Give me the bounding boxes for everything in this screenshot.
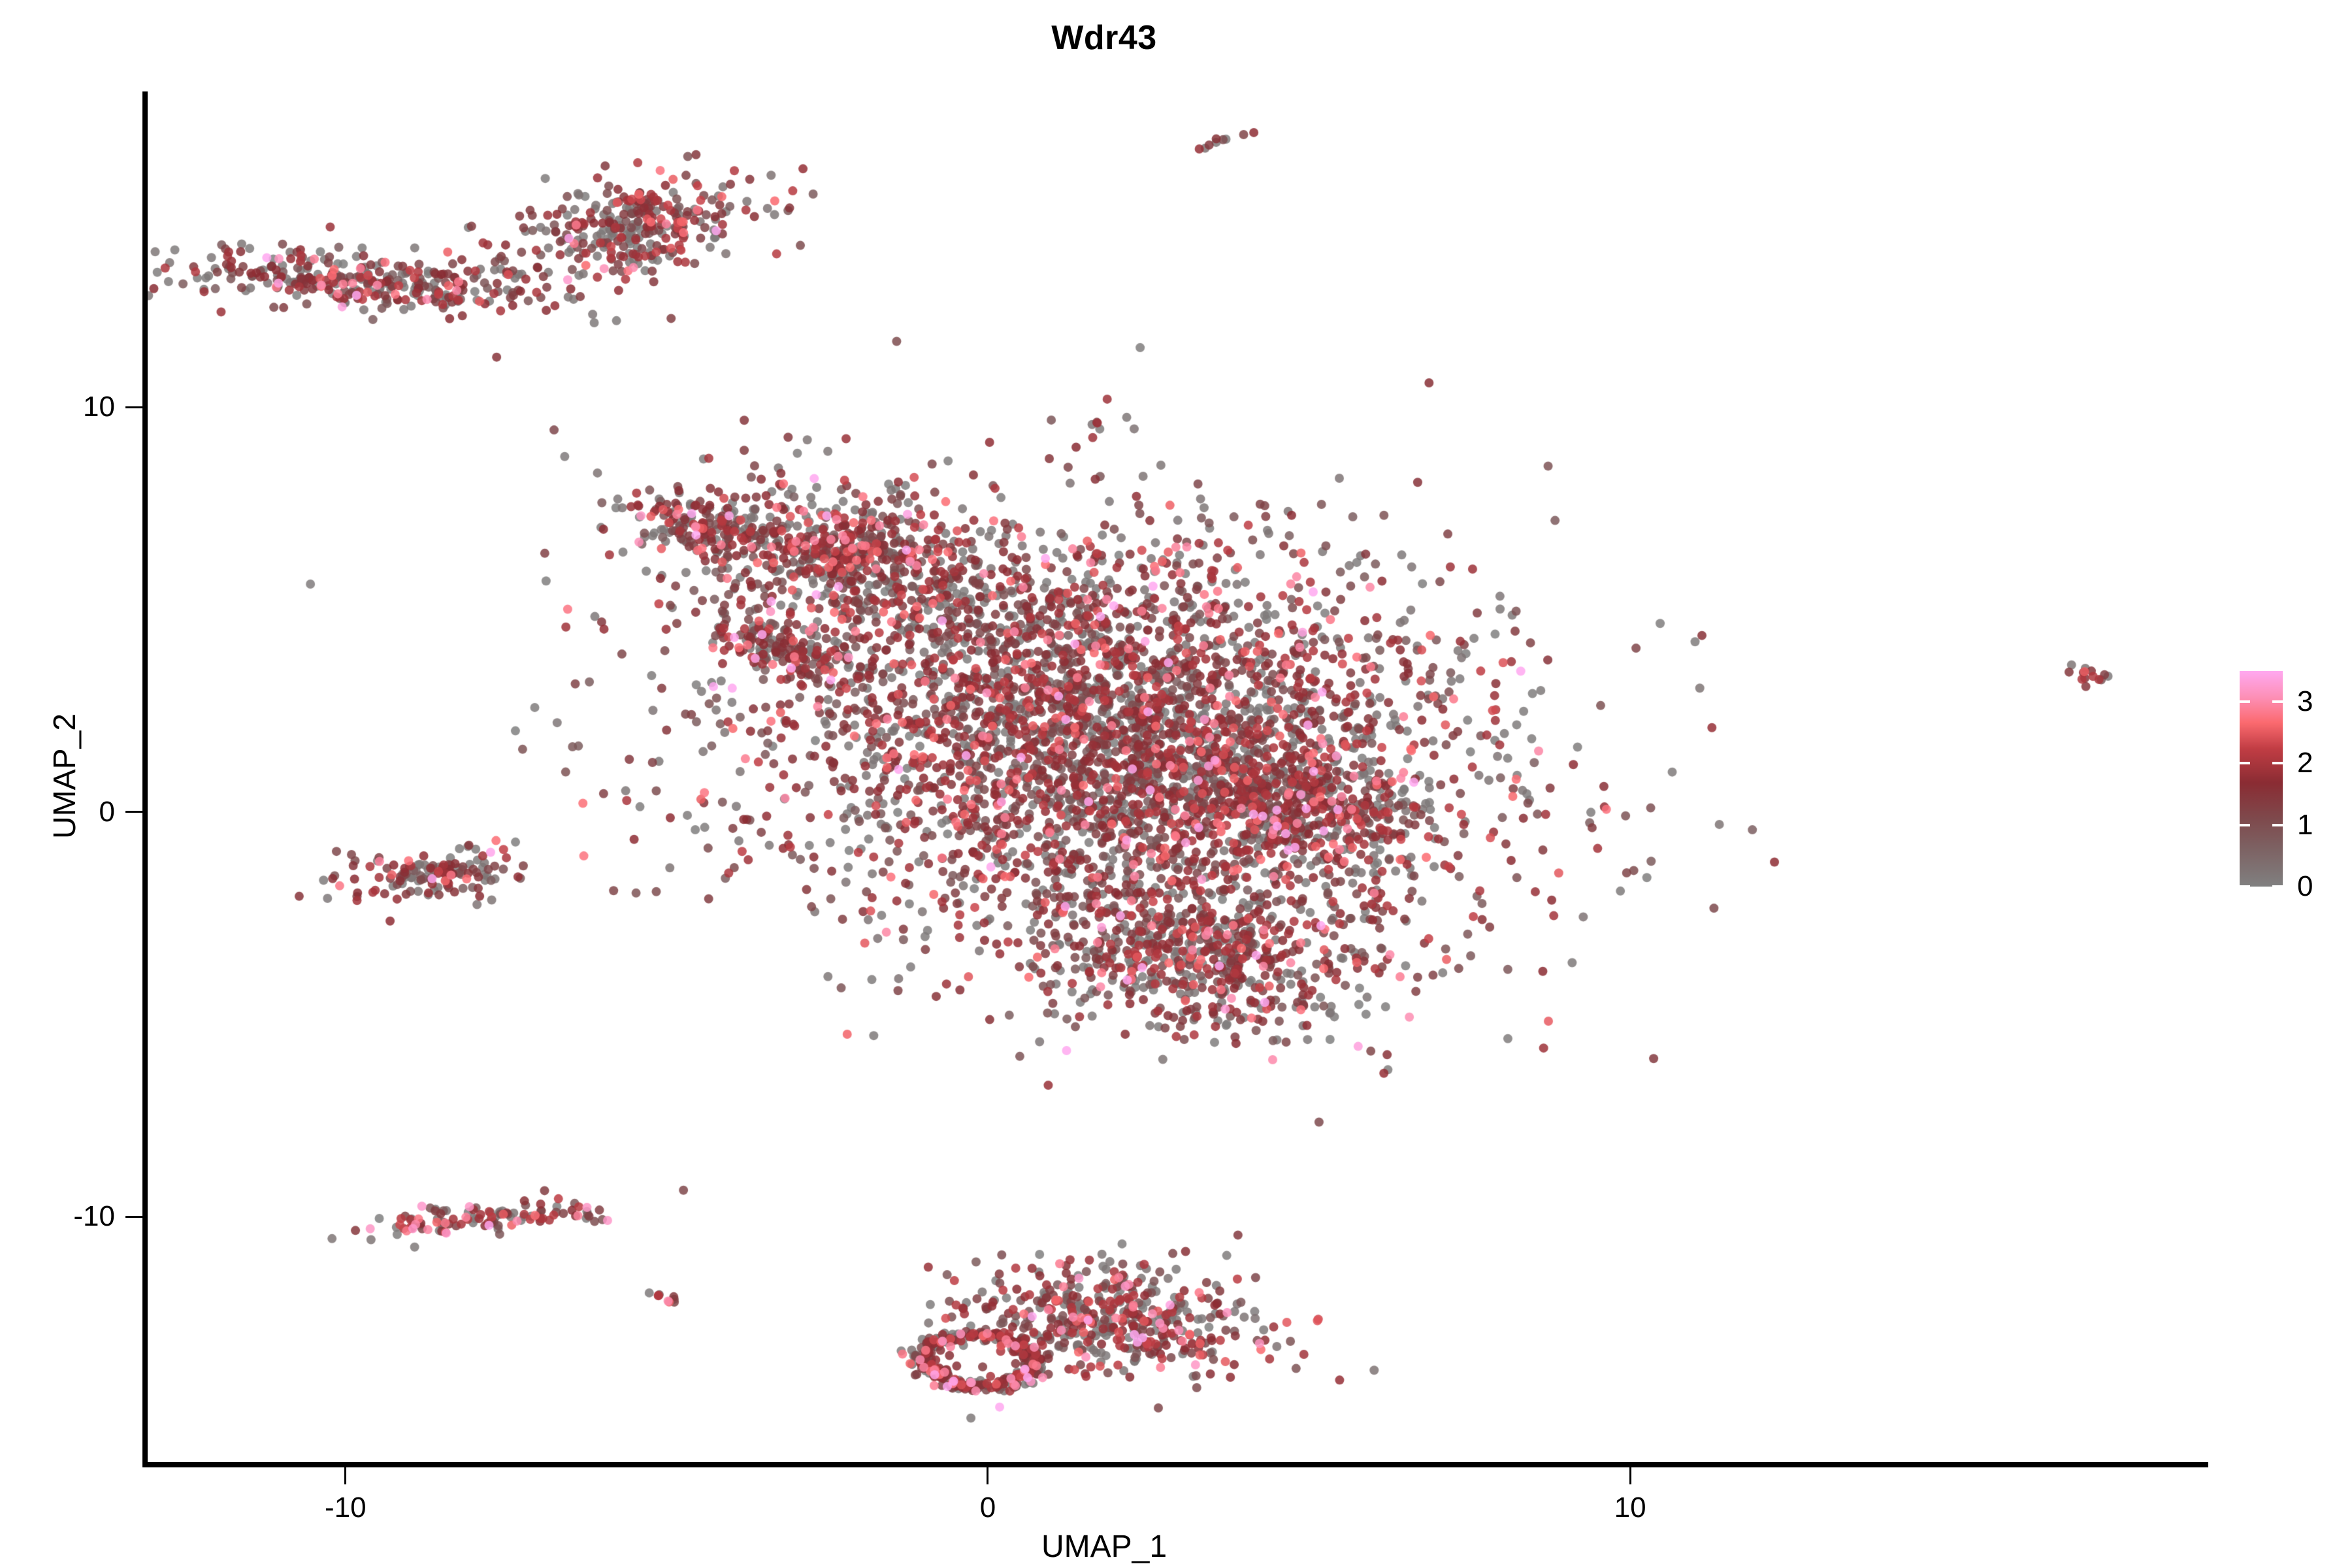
y-tick-label: 10: [0, 390, 115, 424]
y-axis-title: UMAP_2: [47, 515, 84, 1037]
legend-tick-mark: [2240, 762, 2250, 764]
legend-tick-mark: [2272, 824, 2283, 826]
legend-label: 3: [2297, 685, 2343, 719]
legend-label: 2: [2297, 746, 2343, 780]
y-tick-label: -10: [0, 1200, 115, 1233]
legend-label: 1: [2297, 808, 2343, 842]
y-tick-mark: [125, 1216, 142, 1218]
y-axis-line: [142, 91, 148, 1466]
x-tick-mark: [344, 1467, 346, 1484]
legend-tick-mark: [2240, 885, 2250, 888]
legend-tick-mark: [2272, 700, 2283, 703]
legend-tick-mark: [2272, 762, 2283, 764]
x-tick-mark: [987, 1467, 988, 1484]
color-legend[interactable]: 3210: [2237, 666, 2348, 902]
y-tick-mark: [125, 406, 142, 408]
scatter-points-canvas: [146, 91, 2208, 1463]
x-axis-title: UMAP_1: [0, 1529, 2208, 1565]
legend-tick-mark: [2240, 824, 2250, 826]
y-tick-mark: [125, 811, 142, 813]
x-tick-label: -10: [280, 1491, 411, 1525]
plot-panel: [146, 91, 2208, 1463]
x-tick-label: 10: [1565, 1491, 1695, 1525]
umap-feature-plot: Wdr43 -10010 100-10 UMAP_1 UMAP_2 3210: [0, 0, 2352, 1568]
x-axis-line: [142, 1462, 2208, 1467]
legend-colorbar: [2240, 671, 2283, 887]
x-tick-label: 0: [923, 1491, 1053, 1525]
x-tick-mark: [1629, 1467, 1631, 1484]
page-title: Wdr43: [0, 18, 2208, 57]
legend-tick-mark: [2240, 700, 2250, 703]
legend-tick-mark: [2272, 885, 2283, 888]
legend-label: 0: [2297, 870, 2343, 904]
